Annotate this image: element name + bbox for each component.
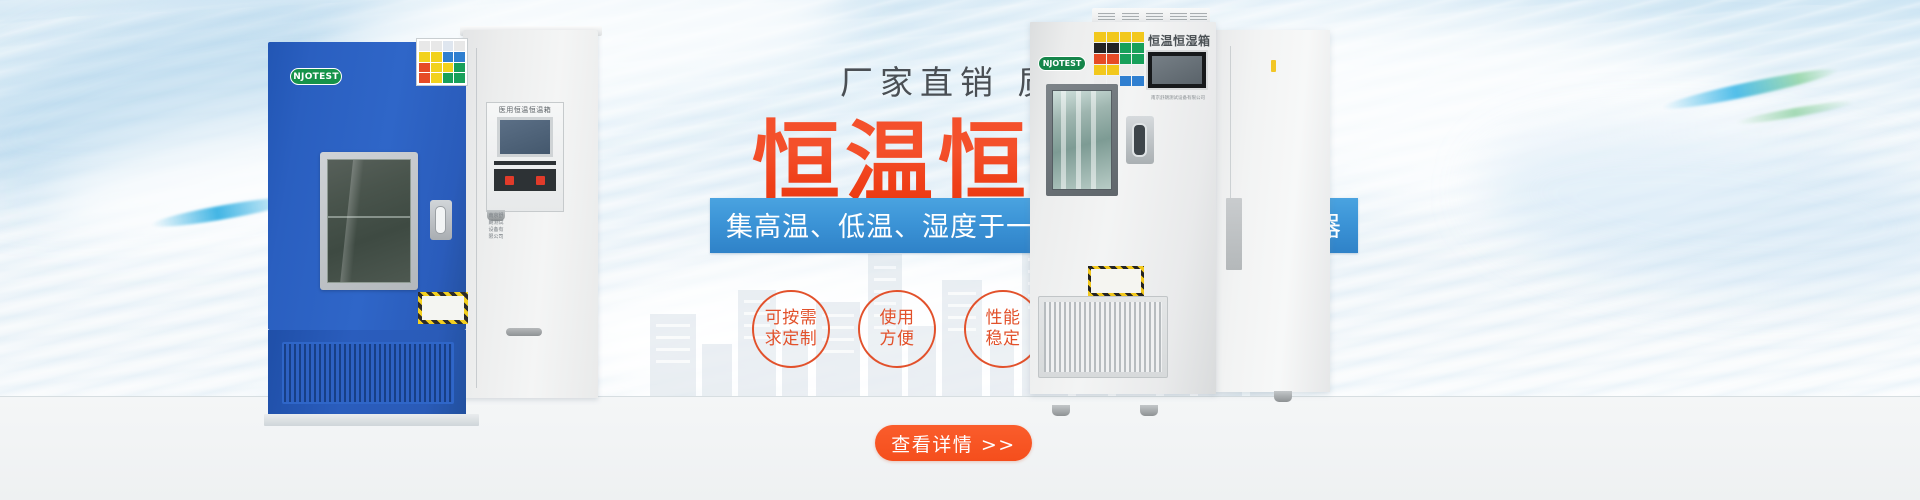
- product-name-marking: 恒温恒湿箱: [1148, 32, 1211, 49]
- warning-label-sticker: [1094, 32, 1144, 87]
- promo-banner: NJOTEST 医用恒温恒温箱 南京舒朗测试设备有限公司 厂家直销 质量保证 恒…: [0, 0, 1920, 500]
- control-panel-screen: [1146, 50, 1208, 90]
- chamber-foot: [1052, 405, 1070, 416]
- ventilation-grille: [1038, 296, 1168, 378]
- window-glass: [1052, 90, 1112, 190]
- feature-badge-custom[interactable]: 可按需 求定制: [752, 290, 830, 368]
- indicator-marker: [1271, 60, 1276, 72]
- brand-logo: NJOTEST: [1038, 56, 1086, 71]
- side-service-panel: [1226, 198, 1242, 270]
- badge-line-2: 求定制: [765, 329, 818, 350]
- banner-copy-block: 厂家直销 质量保证 恒温恒湿箱 集高温、低温、湿度于一身的综合性环境试验仪器 可…: [0, 0, 1920, 500]
- badge-line-2: 方便: [880, 329, 915, 350]
- badge-line-1: 可按需: [765, 308, 818, 329]
- chamber-foot: [1140, 405, 1158, 416]
- feature-badge-easy-use[interactable]: 使用 方便: [858, 290, 936, 368]
- hazard-stripe-label: [1088, 266, 1144, 296]
- manufacturer-text: 南京舒朗测试设备有限公司: [1146, 96, 1210, 103]
- badge-line-2: 稳定: [986, 329, 1021, 350]
- badge-line-1: 使用: [880, 308, 915, 329]
- chamber-foot: [1274, 391, 1292, 402]
- view-details-button[interactable]: 查看详情 >>: [875, 425, 1032, 461]
- chamber-view-window: [1046, 84, 1118, 196]
- badge-line-1: 性能: [986, 308, 1021, 329]
- product-image-right-chamber: NJOTEST 恒温恒湿箱 南京舒朗测试设备有限公司: [1030, 8, 1320, 406]
- door-handle: [1126, 116, 1154, 164]
